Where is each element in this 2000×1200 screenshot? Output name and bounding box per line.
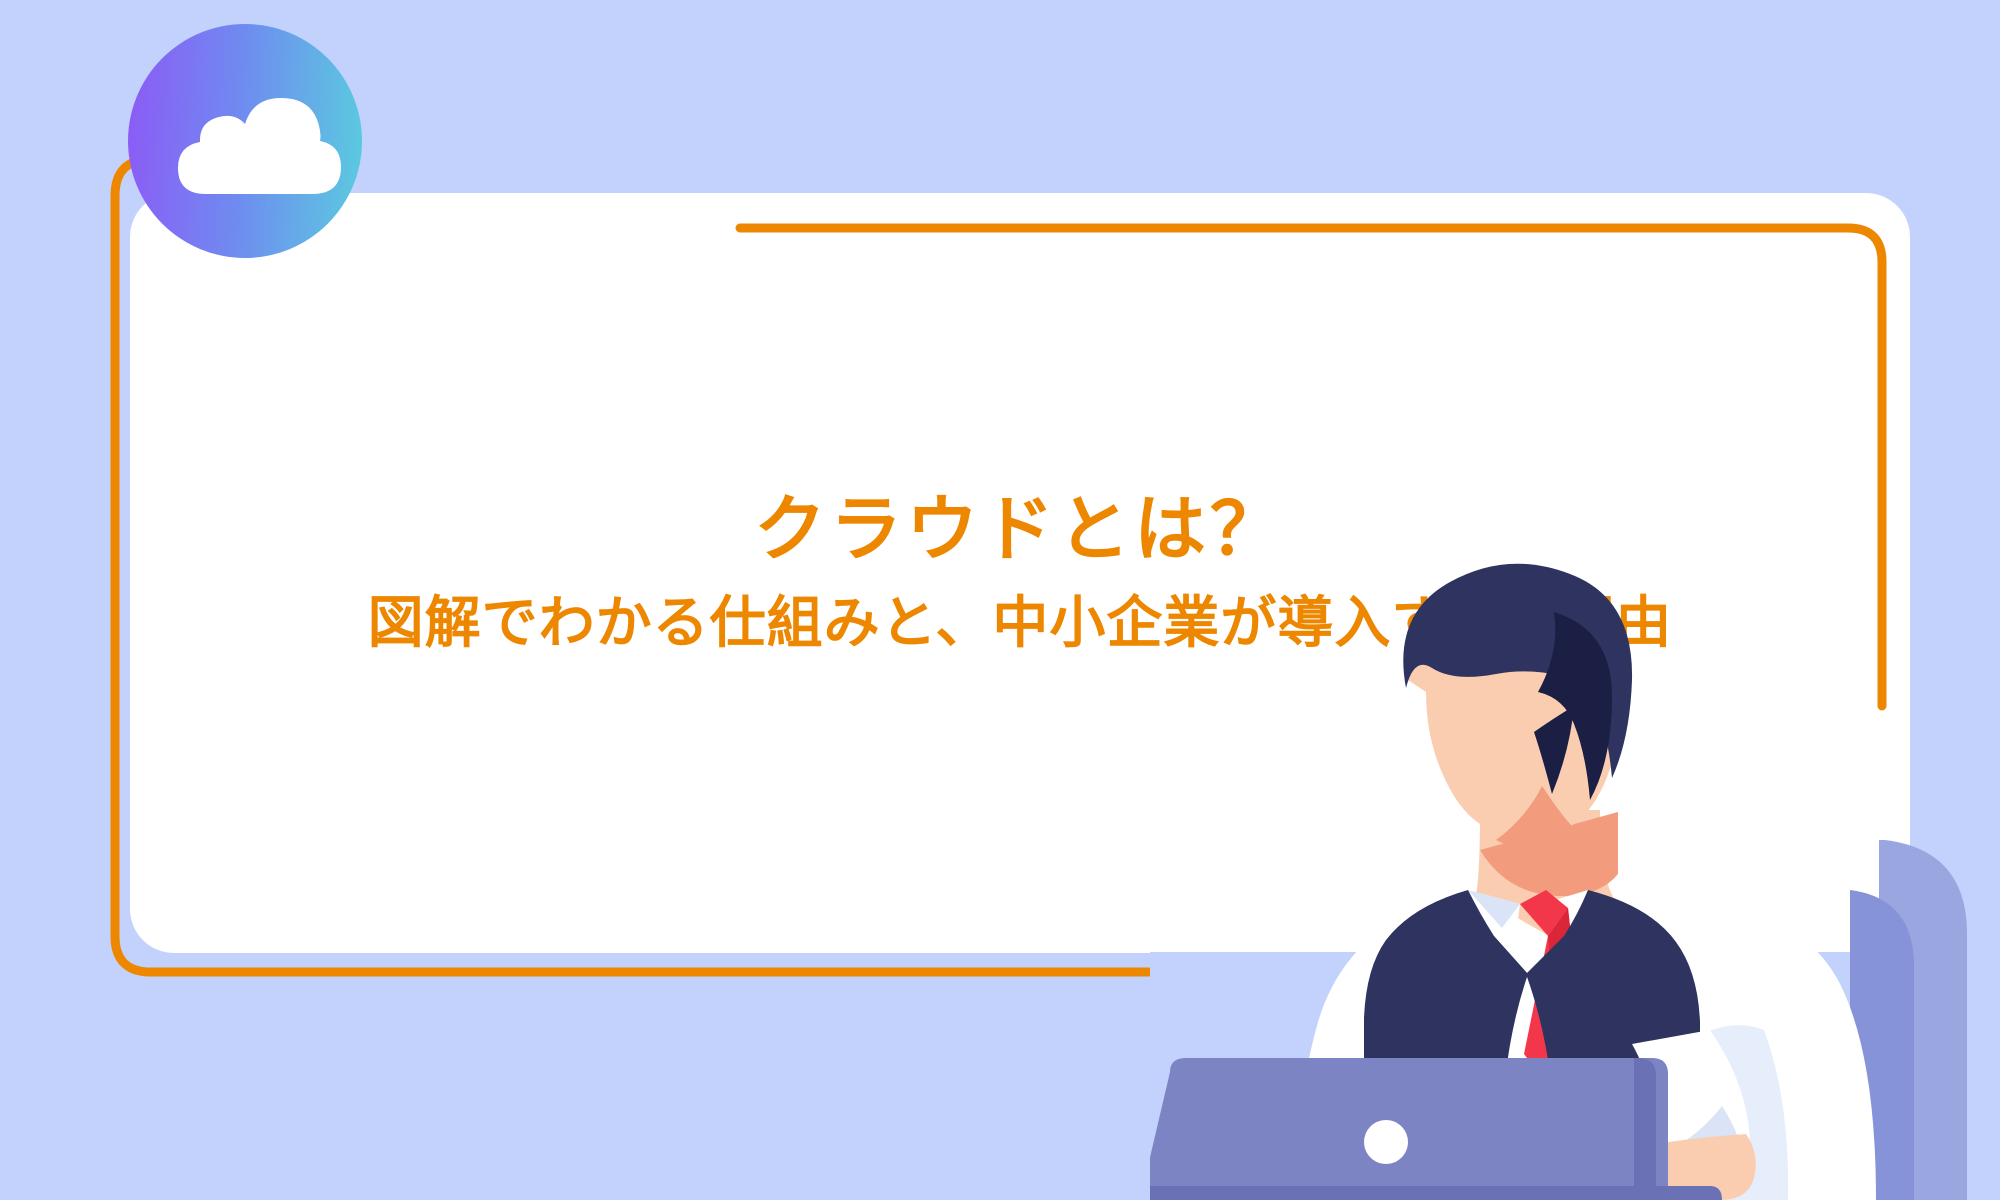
laptop-logo-icon <box>1364 1120 1408 1164</box>
laptop <box>1150 1058 1722 1200</box>
poster-canvas: クラウドとは？ 図解でわかる仕組みと、中小企業が導入すべき理由 <box>0 0 2000 1200</box>
cloud-logo <box>128 24 362 258</box>
businessman-illustration <box>1150 560 2000 1200</box>
